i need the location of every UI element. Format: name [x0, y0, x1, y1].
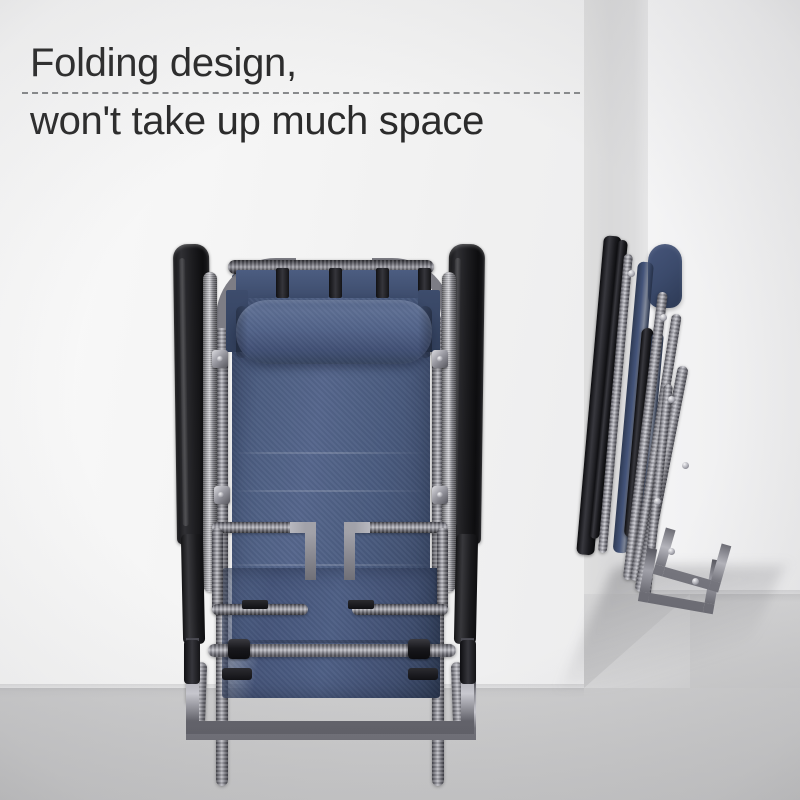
- headline-line-1: Folding design,: [22, 40, 622, 86]
- armrest-leg-right: [454, 534, 478, 644]
- fabric-crease-upper: [234, 452, 428, 454]
- fabric-tab-center-right: [342, 270, 376, 298]
- rivet-upper-right: [437, 356, 443, 362]
- side-rivet-6: [668, 548, 675, 555]
- rivet-upper-left: [217, 356, 223, 362]
- fabric-crease-lower: [226, 564, 436, 566]
- side-rivet-7: [692, 578, 699, 585]
- side-rivet-3: [668, 396, 675, 403]
- side-rivet-5: [654, 498, 661, 505]
- front-leg-u-bend: [186, 638, 474, 734]
- armrest-loop-right-pad: [348, 600, 374, 609]
- headline-line-2: won't take up much space: [22, 98, 622, 144]
- fabric-tab-center-left: [289, 270, 329, 298]
- strap-center-right: [376, 268, 389, 298]
- armrest-leg-left: [181, 534, 205, 644]
- armrest-loop-left-pad: [242, 600, 268, 609]
- headline-dashed-divider: [22, 92, 580, 94]
- fabric-crease-mid: [234, 490, 428, 492]
- headrest-pillow: [236, 300, 432, 364]
- headline-block: Folding design, won't take up much space: [22, 40, 622, 144]
- product-image-canvas: Folding design, won't take up much space: [0, 0, 800, 800]
- rivet-mid-left: [218, 492, 224, 498]
- strap-left: [276, 268, 289, 298]
- armrest-loop-right-side: [437, 528, 448, 614]
- front-leg-ferrule-left: [184, 640, 200, 684]
- side-rivet-1: [628, 270, 635, 277]
- side-rivet-4: [682, 462, 689, 469]
- armrest-loop-left-side: [212, 528, 223, 614]
- strap-center-left: [329, 268, 342, 298]
- folded-chair-front-view: [150, 238, 510, 736]
- fabric-tab-right: [389, 270, 419, 298]
- side-rivet-2: [660, 314, 667, 321]
- front-leg-ferrule-right: [460, 640, 476, 684]
- rivet-mid-right: [437, 492, 443, 498]
- folded-chair-side-view: [596, 236, 756, 656]
